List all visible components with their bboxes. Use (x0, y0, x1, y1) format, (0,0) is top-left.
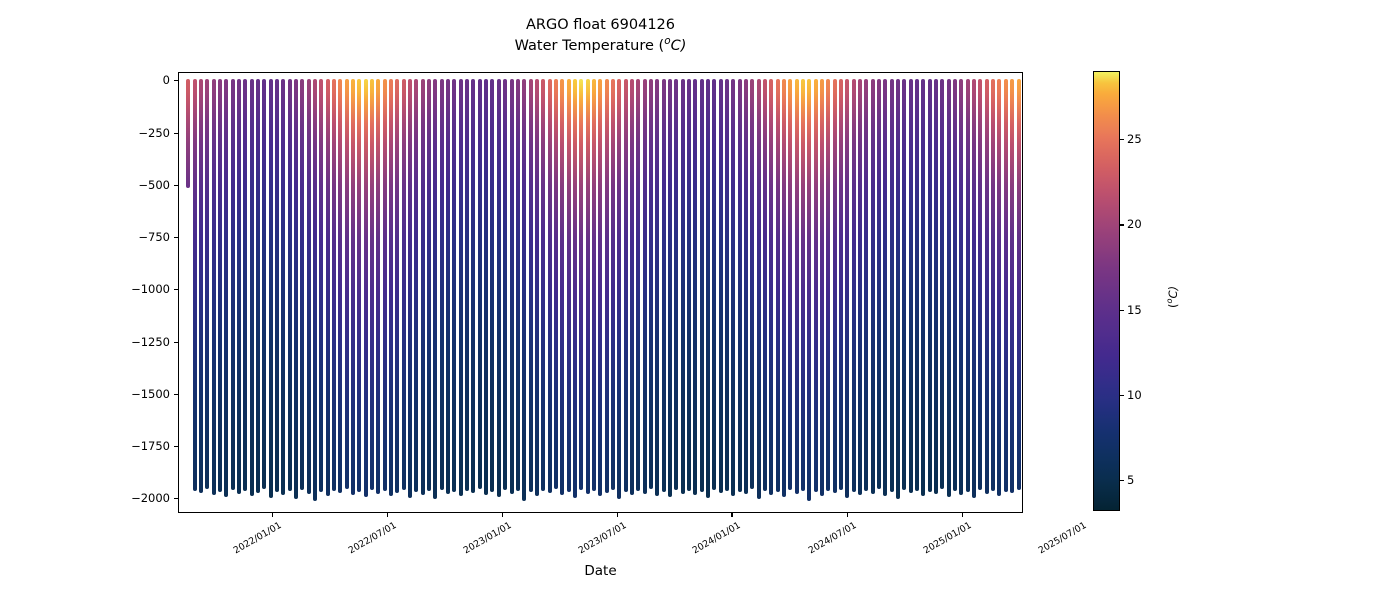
profile-column (934, 79, 938, 494)
profile-column (833, 79, 837, 493)
profile-column (554, 79, 558, 488)
profile-column (706, 79, 710, 498)
profile-column (858, 79, 862, 495)
profile-column (788, 79, 792, 490)
x-tick-label: 2024/01/01 (634, 520, 743, 590)
profile-column (719, 79, 723, 493)
profile-column (972, 79, 976, 498)
profile-column (839, 79, 843, 490)
profile-column (1017, 79, 1021, 490)
x-tick-label: 2023/07/01 (519, 520, 628, 590)
colorbar-label-suffix: C) (1166, 286, 1180, 299)
profile-column (636, 79, 640, 491)
profile-column (275, 79, 279, 492)
profile-column (231, 79, 235, 490)
profile-column (414, 79, 418, 492)
profile-column (281, 79, 285, 495)
profile-column (319, 79, 323, 492)
x-tick-label: 2024/07/01 (749, 520, 858, 590)
profile-column (579, 79, 583, 490)
profile-column (909, 79, 913, 493)
profile-column (991, 79, 995, 491)
profile-column (452, 79, 456, 492)
profile-column (459, 79, 463, 496)
profile-column (332, 79, 336, 491)
profile-column (947, 79, 951, 497)
y-tick-label: −2000 (100, 491, 170, 505)
profile-column (985, 79, 989, 494)
x-tick-mark (387, 513, 388, 517)
profile-column (237, 79, 241, 494)
profile-column (617, 79, 621, 499)
chart-title-block: ARGO float 6904126 Water Temperature (oC… (178, 16, 1023, 56)
colorbar-tick-mark (1120, 224, 1124, 225)
profile-column (624, 79, 628, 492)
profile-column (649, 79, 653, 488)
profile-column (516, 79, 520, 491)
x-tick-label: 2022/01/01 (174, 520, 283, 590)
profile-column (921, 79, 925, 496)
profile-column (465, 79, 469, 491)
profile-column (845, 79, 849, 498)
chart-subtitle-suffix: C) (671, 38, 687, 54)
profile-column (959, 79, 963, 495)
y-tick-label: −1250 (100, 335, 170, 349)
profile-column (712, 79, 716, 490)
profile-column (643, 79, 647, 494)
profile-column (966, 79, 970, 492)
profile-column (294, 79, 298, 499)
profile-column (852, 79, 856, 492)
profile-column (300, 79, 304, 490)
profile-column (871, 79, 875, 494)
profile-column (700, 79, 704, 492)
colorbar-tick-label: 25 (1127, 132, 1142, 146)
colorbar-tick-mark (1120, 310, 1124, 311)
profile-column (205, 79, 209, 488)
profile-column (662, 79, 666, 492)
profile-column (630, 79, 634, 495)
profile-column (1010, 79, 1014, 493)
profile-column (567, 79, 571, 492)
profile-column (896, 79, 900, 499)
profile-column (250, 79, 254, 496)
profile-column (877, 79, 881, 488)
colorbar-label: (oC) (1164, 286, 1180, 308)
matplotlib-figure: ARGO float 6904126 Water Temperature (oC… (0, 0, 1400, 600)
colorbar-gradient[interactable] (1093, 71, 1120, 511)
profile-column (902, 79, 906, 490)
profile-column (674, 79, 678, 490)
profile-column (598, 79, 602, 496)
profile-column (307, 79, 311, 494)
y-tick-label: −750 (100, 230, 170, 244)
profile-column (820, 79, 824, 496)
profile-column (864, 79, 868, 491)
y-tick-label: −500 (100, 178, 170, 192)
profile-column (605, 79, 609, 493)
profile-column (522, 79, 526, 501)
profile-column (218, 79, 222, 492)
colorbar-label-prefix: ( (1166, 304, 1180, 309)
x-tick-mark (731, 513, 732, 517)
x-axis-label: Date (178, 563, 1023, 579)
profile-column (725, 79, 729, 491)
profile-column (433, 79, 437, 499)
profile-column (313, 79, 317, 501)
profile-column (541, 79, 545, 491)
profile-column (757, 79, 761, 499)
x-tick-label: 2025/07/01 (979, 520, 1088, 590)
profile-column (262, 79, 266, 488)
profile-column (440, 79, 444, 490)
profile-column (490, 79, 494, 492)
profile-column (978, 79, 982, 490)
profile-column (326, 79, 330, 496)
x-tick-mark (272, 513, 273, 517)
profile-column (953, 79, 957, 491)
y-tick-label: −250 (100, 126, 170, 140)
profile-column (269, 79, 273, 498)
profile-column (446, 79, 450, 494)
x-tick-mark (847, 513, 848, 517)
profile-column (535, 79, 539, 496)
profile-column (370, 79, 374, 490)
y-tick-label: −1500 (100, 387, 170, 401)
profile-column (750, 79, 754, 488)
chart-subtitle-prefix: Water Temperature ( (515, 38, 665, 54)
colorbar-tick-mark (1120, 139, 1124, 140)
profile-column (782, 79, 786, 497)
profile-column (389, 79, 393, 496)
profile-column (484, 79, 488, 495)
profile-column (345, 79, 349, 488)
profile-column (364, 79, 368, 497)
y-tick-label: −1000 (100, 282, 170, 296)
colorbar-tick-mark (1120, 395, 1124, 396)
profile-column (738, 79, 742, 492)
x-tick-mark (962, 513, 963, 517)
profile-column (693, 79, 697, 495)
profile-column (376, 79, 380, 494)
profile-column (681, 79, 685, 494)
profile-column (826, 79, 830, 491)
profile-column (883, 79, 887, 496)
plot-axes[interactable] (178, 72, 1023, 513)
x-tick-mark (502, 513, 503, 517)
profile-column (655, 79, 659, 496)
colorbar-tick-label: 15 (1127, 303, 1142, 317)
scatter-plot-area[interactable] (179, 73, 1022, 512)
chart-title-line-1: ARGO float 6904126 (178, 16, 1023, 35)
profile-column (776, 79, 780, 492)
profile-column (940, 79, 944, 488)
profile-column (731, 79, 735, 496)
x-tick-mark (617, 513, 618, 517)
profile-column (199, 79, 203, 493)
y-tick-label: 0 (100, 73, 170, 87)
profile-column (548, 79, 552, 493)
profile-column (611, 79, 615, 490)
x-tick-label: 2023/01/01 (404, 520, 513, 590)
profile-column (351, 79, 355, 495)
profile-column (744, 79, 748, 494)
profile-column (338, 79, 342, 493)
profile-column (427, 79, 431, 491)
profile-column (395, 79, 399, 493)
profile-column (687, 79, 691, 491)
colorbar-tick-label: 10 (1127, 388, 1142, 402)
profile-column (890, 79, 894, 492)
profile-column (763, 79, 767, 491)
profile-column (212, 79, 216, 495)
profile-column (471, 79, 475, 493)
profile-column (1004, 79, 1008, 492)
profile-column (421, 79, 425, 495)
profile-column (510, 79, 514, 494)
profile-column (224, 79, 228, 497)
colorbar-tick-mark (1120, 480, 1124, 481)
profile-column (288, 79, 292, 491)
profile-column (586, 79, 590, 494)
profile-column (529, 79, 533, 492)
colorbar-container[interactable]: 510152025 (1093, 71, 1120, 511)
profile-column (573, 79, 577, 498)
profile-column (402, 79, 406, 490)
profile-column (928, 79, 932, 492)
profile-column (997, 79, 1001, 496)
profile-column (256, 79, 260, 493)
profile-column (186, 79, 190, 188)
x-tick-label: 2022/07/01 (289, 520, 398, 590)
colorbar-degree-superscript-icon: o (1164, 298, 1174, 303)
profile-column (193, 79, 197, 491)
x-tick-label: 2025/01/01 (864, 520, 973, 590)
profile-column (478, 79, 482, 488)
profile-column (668, 79, 672, 497)
profile-column (243, 79, 247, 491)
profile-column (801, 79, 805, 491)
chart-title-line-2: Water Temperature (oC) (178, 35, 1023, 56)
colorbar-tick-label: 20 (1127, 217, 1142, 231)
profile-column (769, 79, 773, 495)
y-tick-label: −1750 (100, 439, 170, 453)
colorbar-tick-label: 5 (1127, 473, 1134, 487)
profile-column (592, 79, 596, 491)
profile-column (814, 79, 818, 492)
profile-column (795, 79, 799, 494)
profile-column (383, 79, 387, 491)
profile-column (807, 79, 811, 501)
profile-column (497, 79, 501, 497)
profile-column (915, 79, 919, 491)
profile-column (357, 79, 361, 492)
profile-column (503, 79, 507, 490)
profile-column (408, 79, 412, 498)
profile-column (560, 79, 564, 495)
